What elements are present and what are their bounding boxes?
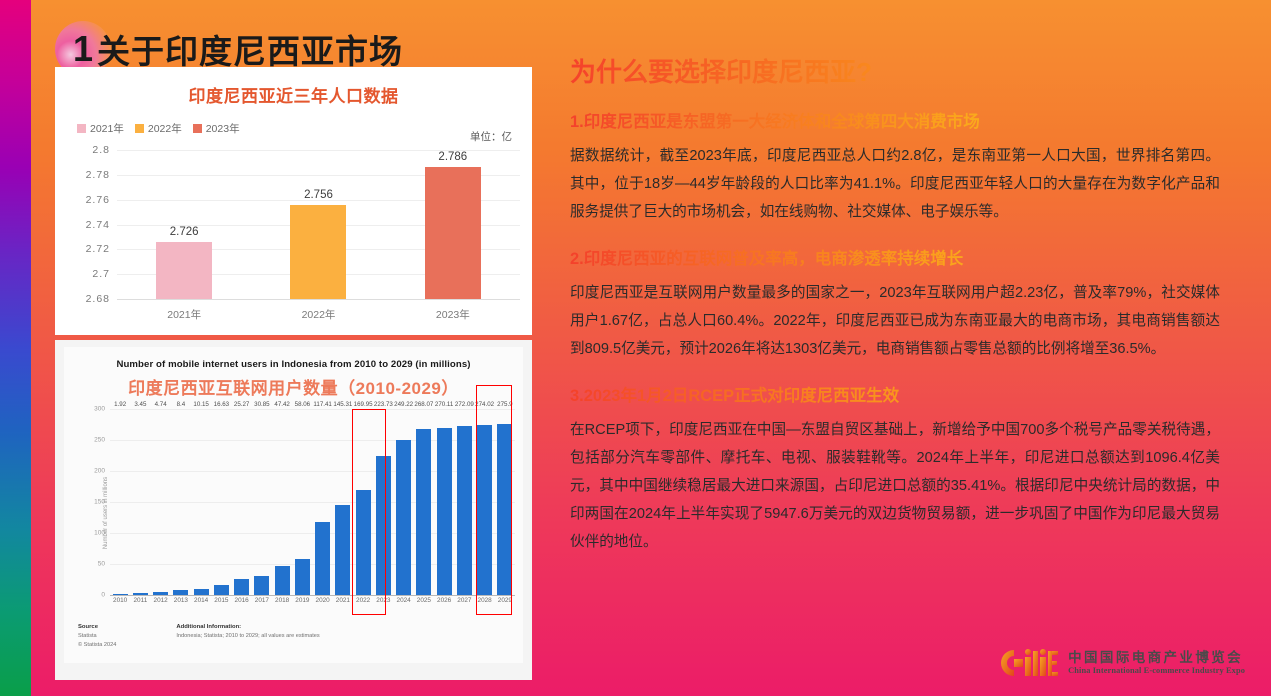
internet-users-chart-card: Number of mobile internet users in Indon… — [55, 340, 532, 680]
left-column: 1 关于印度尼西亚市场 印度尼西亚近三年人口数据 2021年 2022年 202… — [31, 0, 556, 696]
x-tick-label: 2022 — [353, 597, 373, 604]
bar-group: 30.85 — [252, 409, 272, 595]
x-tick-label: 2010 — [110, 597, 130, 604]
x-tick-label: 2021 — [333, 597, 353, 604]
x-tick-label: 2029 — [495, 597, 515, 604]
bar — [425, 167, 481, 299]
x-tick-label: 2015 — [211, 597, 231, 604]
bar-value-label: 25.27 — [234, 401, 249, 408]
right-section-body-1: 据数据统计，截至2023年底，印度尼西亚总人口约2.8亿，是东南亚第一人口大国，… — [570, 142, 1220, 226]
internet-users-chart-bars: 1.923.454.748.410.1516.6325.2730.8547.42… — [110, 409, 515, 595]
bar-group: 272.09 — [454, 409, 474, 595]
chart-source-block: Source Statista © Statista 2024 — [78, 623, 116, 655]
bar-value-label: 3.45 — [134, 401, 146, 408]
bar: 4.74 — [153, 592, 168, 595]
bar: 169.95 — [356, 490, 371, 595]
internet-users-chart-footer: Source Statista © Statista 2024 Addition… — [73, 623, 532, 655]
y-tick-label: 100 — [94, 530, 105, 537]
bar: 3.45 — [133, 593, 148, 595]
bar — [290, 205, 346, 299]
chart-additional-label: Additional Information: — [176, 623, 319, 632]
x-tick-label: 2022年 — [252, 307, 385, 322]
legend-item-2021: 2021年 — [77, 121, 124, 136]
bar-value-label: 117.41 — [313, 401, 331, 408]
gridline — [110, 595, 515, 596]
bar-value-label: 2.726 — [170, 226, 199, 238]
expo-logo: 中国国际电商产业博览会 China International E-commer… — [997, 646, 1245, 680]
right-section-heading-2: 2.印度尼西亚的互联网普及率高，电商渗透率持续增长 — [570, 248, 1220, 271]
bar-value-label: 223.73 — [374, 401, 393, 408]
y-tick-label: 2.76 — [86, 194, 110, 206]
y-tick-label: 300 — [94, 406, 105, 413]
bar-group: 117.41 — [313, 409, 333, 595]
y-tick-label: 2.68 — [86, 293, 110, 305]
x-tick-label: 2023 — [373, 597, 393, 604]
x-tick-label: 2013 — [171, 597, 191, 604]
bar-group: 3.45 — [130, 409, 150, 595]
legend-swatch-2023 — [193, 124, 202, 133]
chart-additional-block: Additional Information: Indonesia; Stati… — [176, 623, 319, 655]
internet-users-chart-title-en: Number of mobile internet users in Indon… — [64, 347, 523, 370]
y-tick-label: 2.72 — [86, 243, 110, 255]
x-tick-label: 2023年 — [386, 307, 519, 322]
x-tick-label: 2028 — [475, 597, 495, 604]
x-tick-label: 2020 — [313, 597, 333, 604]
bar-value-label: 47.42 — [274, 401, 289, 408]
y-tick-label: 200 — [94, 468, 105, 475]
x-tick-label: 2019 — [292, 597, 312, 604]
decorative-rainbow-strip — [0, 0, 31, 696]
bar: 58.06 — [295, 559, 310, 595]
x-tick-label: 2027 — [454, 597, 474, 604]
bar-group: 1.92 — [110, 409, 130, 595]
y-tick-label: 2.7 — [92, 268, 110, 280]
legend-swatch-2021 — [77, 124, 86, 133]
bar-group: 274.02 — [475, 409, 495, 595]
right-section-heading-1: 1.印度尼西亚是东盟第一大经济体和全球第四大消费市场 — [570, 111, 1220, 134]
population-chart-xaxis: 2021年2022年2023年 — [117, 303, 520, 325]
bar: 249.22 — [396, 440, 411, 595]
bar-group: 249.22 — [394, 409, 414, 595]
population-chart-card: 印度尼西亚近三年人口数据 2021年 2022年 2023年 单位：亿 2.68… — [55, 67, 532, 335]
x-tick-label: 2012 — [151, 597, 171, 604]
bar: 25.27 — [234, 579, 249, 595]
bar-group: 275.9 — [495, 409, 515, 595]
x-tick-label: 2016 — [232, 597, 252, 604]
bar-value-label: 274.02 — [475, 401, 494, 408]
x-tick-label: 2021年 — [118, 307, 251, 322]
y-tick-label: 50 — [98, 561, 105, 568]
bar: 8.4 — [173, 590, 188, 595]
internet-users-chart-ylabel: Number of users in millions — [103, 477, 109, 549]
bar-value-label: 30.85 — [254, 401, 269, 408]
population-chart-title: 印度尼西亚近三年人口数据 — [55, 67, 532, 107]
x-tick-label: 2011 — [130, 597, 150, 604]
internet-users-chart-inner: Number of mobile internet users in Indon… — [64, 347, 523, 663]
right-section-body-2: 印度尼西亚是互联网用户数量最多的国家之一，2023年互联网用户超2.23亿，普及… — [570, 279, 1220, 363]
bar-value-label: 58.06 — [295, 401, 310, 408]
bar-value-label: 270.11 — [435, 401, 453, 408]
x-tick-label: 2026 — [434, 597, 454, 604]
bar: 10.15 — [194, 589, 209, 595]
bar-value-label: 8.4 — [177, 401, 186, 408]
bar-group: 8.4 — [171, 409, 191, 595]
bar-value-label: 169.95 — [354, 401, 373, 408]
logo-name-cn: 中国国际电商产业博览会 — [1068, 650, 1245, 666]
bar-value-label: 275.9 — [497, 401, 512, 408]
x-tick-label: 2014 — [191, 597, 211, 604]
right-section-heading-3: 3.2023年1月2日RCEP正式对印度尼西亚生效 — [570, 385, 1220, 408]
bar-group: 2.726 — [118, 150, 251, 299]
legend-label-2021: 2021年 — [90, 121, 124, 136]
bar: 275.9 — [497, 424, 512, 595]
right-panel-title: 为什么要选择印度尼西亚? — [570, 56, 1220, 89]
bar-group: 268.07 — [414, 409, 434, 595]
bar — [156, 242, 212, 299]
bar-value-label: 268.07 — [414, 401, 433, 408]
internet-users-chart-plot: Number of users in millions 050100150200… — [64, 403, 523, 623]
x-tick-label: 2018 — [272, 597, 292, 604]
bar-value-label: 2.786 — [438, 151, 467, 163]
bar-value-label: 1.92 — [114, 401, 126, 408]
chart-source-name: Statista — [78, 632, 116, 641]
bar-group: 145.31 — [333, 409, 353, 595]
legend-item-2023: 2023年 — [193, 121, 240, 136]
bar-value-label: 145.31 — [333, 401, 352, 408]
y-tick-label: 2.78 — [86, 169, 110, 181]
chart-additional-value: Indonesia; Statista; 2010 to 2029; all v… — [176, 632, 319, 641]
page-title: 关于印度尼西亚市场 — [97, 25, 403, 73]
y-tick-label: 150 — [94, 499, 105, 506]
bar-value-label: 249.22 — [394, 401, 413, 408]
logo-text: 中国国际电商产业博览会 China International E-commer… — [1068, 650, 1245, 676]
chart-source-label: Source — [78, 623, 116, 632]
bar: 272.09 — [457, 426, 472, 595]
bar: 145.31 — [335, 505, 350, 595]
bar-group: 47.42 — [272, 409, 292, 595]
bar: 274.02 — [477, 425, 492, 595]
bar-group: 58.06 — [292, 409, 312, 595]
bar-value-label: 2.756 — [304, 189, 333, 201]
bar-group: 2.786 — [386, 150, 519, 299]
legend-swatch-2022 — [135, 124, 144, 133]
bar-value-label: 272.09 — [455, 401, 474, 408]
gridline — [117, 299, 520, 300]
right-column: 为什么要选择印度尼西亚? 1.印度尼西亚是东盟第一大经济体和全球第四大消费市场 … — [570, 56, 1220, 556]
legend-label-2023: 2023年 — [206, 121, 240, 136]
legend-item-2022: 2022年 — [135, 121, 182, 136]
x-tick-label: 2025 — [414, 597, 434, 604]
internet-users-chart-xaxis: 2010201120122013201420152016201720182019… — [110, 597, 515, 617]
bar-group: 25.27 — [232, 409, 252, 595]
bar-group: 4.74 — [151, 409, 171, 595]
bar-group: 223.73 — [373, 409, 393, 595]
bar-value-label: 16.63 — [214, 401, 229, 408]
bar: 1.92 — [113, 594, 128, 595]
bar-value-label: 10.15 — [193, 401, 208, 408]
bar-group: 169.95 — [353, 409, 373, 595]
chart-source-copyright: © Statista 2024 — [78, 641, 116, 650]
bar: 270.11 — [437, 428, 452, 595]
population-chart-plot: 2.682.72.722.742.762.782.8 2.7262.7562.7… — [55, 137, 532, 335]
x-tick-label: 2024 — [394, 597, 414, 604]
bar-group: 2.756 — [252, 150, 385, 299]
section-number: 1 — [73, 31, 93, 67]
bar: 30.85 — [254, 576, 269, 595]
bar-group: 16.63 — [211, 409, 231, 595]
right-section-body-3: 在RCEP项下，印度尼西亚在中国—东盟自贸区基础上，新增给予中国700多个税号产… — [570, 416, 1220, 556]
bar: 268.07 — [416, 429, 431, 595]
bar-group: 270.11 — [434, 409, 454, 595]
y-tick-label: 2.8 — [92, 144, 110, 156]
x-tick-label: 2017 — [252, 597, 272, 604]
bar-value-label: 4.74 — [155, 401, 167, 408]
y-tick-label: 250 — [94, 437, 105, 444]
internet-users-chart-title-cn: 印度尼西亚互联网用户数量（2010-2029） — [64, 374, 523, 399]
bar: 223.73 — [376, 456, 391, 595]
legend-label-2022: 2022年 — [148, 121, 182, 136]
bar-group: 10.15 — [191, 409, 211, 595]
population-chart-legend: 2021年 2022年 2023年 — [77, 121, 532, 136]
y-tick-label: 2.74 — [86, 219, 110, 231]
population-chart-bars: 2.7262.7562.786 — [117, 150, 520, 299]
y-tick-label: 0 — [101, 592, 105, 599]
bar: 117.41 — [315, 522, 330, 595]
cieie-logo-icon — [997, 646, 1059, 680]
bar: 47.42 — [275, 566, 290, 595]
bar: 16.63 — [214, 585, 229, 595]
logo-name-en: China International E-commerce Industry … — [1068, 666, 1245, 676]
